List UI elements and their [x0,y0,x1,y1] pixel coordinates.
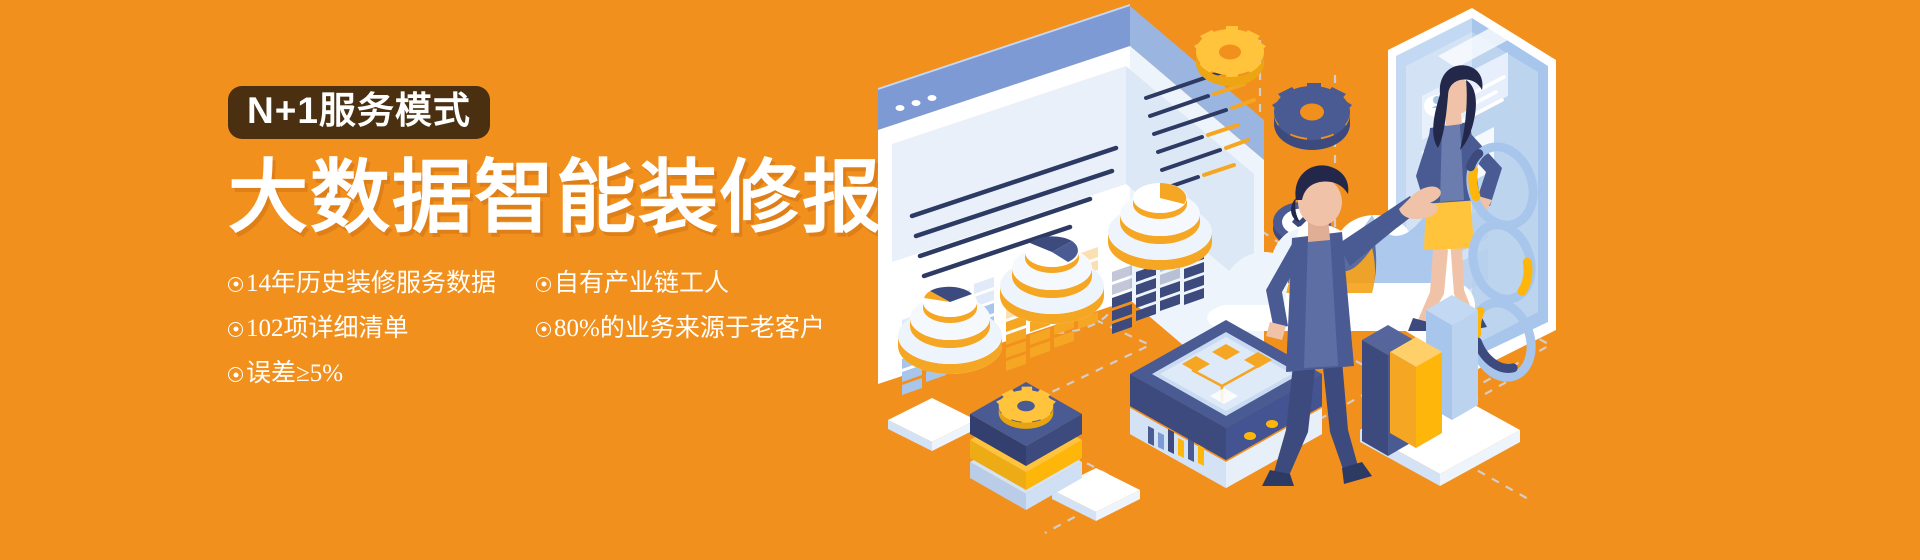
list-item-label: 80%的业务来源于老客户 [554,313,825,344]
feature-bullet-list: 14年历史装修服务数据 自有产业链工人 102项详细清单 80%的业务来源于老客… [228,268,848,390]
list-item: 14年历史装修服务数据 [228,268,528,299]
list-item: 自有产业链工人 [536,268,848,299]
isometric-big-data-scene [830,0,1920,560]
target-dot-icon [536,277,551,292]
list-item-label: 14年历史装修服务数据 [246,268,496,299]
bar-orange [1390,337,1442,448]
target-dot-icon [228,277,243,292]
list-item-label: 误差≥5% [246,358,343,389]
gear-yellow-icon [1194,26,1266,86]
list-item: 102项详细清单 [228,313,528,344]
list-item: 80%的业务来源于老客户 [536,313,848,344]
list-item-label: 自有产业链工人 [554,268,729,299]
service-model-badge: N+1服务模式 [228,86,490,139]
target-dot-icon [536,322,551,337]
list-item: 误差≥5% [228,358,528,389]
target-dot-icon [228,322,243,337]
promo-banner: N+1服务模式 大数据智能装修报价 14年历史装修服务数据 自有产业链工人 10… [0,0,1920,560]
list-item-label: 102项详细清单 [246,313,409,344]
target-dot-icon [228,367,243,382]
gear-navy-icon [1272,83,1352,150]
